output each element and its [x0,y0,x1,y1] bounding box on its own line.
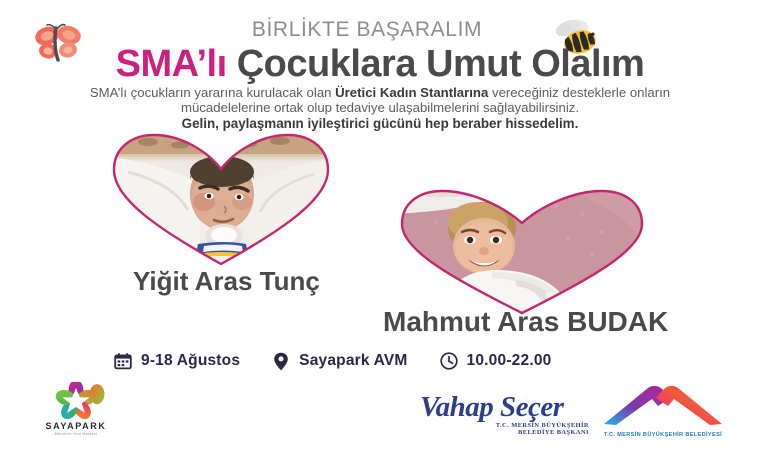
kicker-text: BİRLİKTE BAŞARALIM [0,18,760,42]
body-line1-bold: Üretici Kadın Stantlarına [335,85,488,100]
sayapark-flower-logo [47,382,105,420]
child-name-2: Mahmut Aras BUDAK [383,306,668,338]
mersin-m-logo [600,384,726,431]
page-title: SMA’lı Çocuklara Umut Olalım [0,43,760,86]
child-photo-heart-2 [396,188,648,316]
location-pin-icon [270,350,292,372]
child-name-1: Yiğit Aras Tunç [133,266,320,297]
mersin-caption: T.C. MERSİN BÜYÜKŞEHİR BELEDİYESİ [600,432,726,438]
event-info-bar: 9-18 Ağustos Sayapark AVM 10.00-22.00 [112,350,551,372]
info-item-location: Sayapark AVM [270,350,407,372]
info-item-date: 9-18 Ağustos [112,350,240,372]
sayapark-tagline: Mersin'in Yeni Merkezi [38,432,114,436]
vahap-title-line1: T.C. MERSİN BÜYÜKŞEHİR [420,422,595,429]
vahap-secer-logo: Vahap Seçer T.C. MERSİN BÜYÜKŞEHİR BELED… [420,392,595,436]
vahap-title-line2: BELEDİYE BAŞKANI [420,429,595,436]
poster-canvas: BİRLİKTE BAŞARALIM SMA’lı Çocuklara Umut… [0,0,760,450]
mersin-municipality-logo: T.C. MERSİN BÜYÜKŞEHİR BELEDİYESİ [600,384,726,436]
headline-rest: Çocuklara Umut Olalım [237,43,645,85]
headline-highlight: SMA’lı [116,43,227,85]
clock-icon [438,350,460,372]
body-line3: Gelin, paylaşmanın iyileştirici gücünü h… [80,117,680,132]
child-photo-heart-1 [108,132,334,267]
vahap-signature: Vahap Seçer [420,392,595,422]
body-line1-b: vereceğiniz [488,85,558,100]
info-item-time: 10.00-22.00 [438,350,552,372]
sayapark-logo: SAYAPARK Mersin'in Yeni Merkezi [38,382,114,436]
sayapark-wordmark: SAYAPARK [38,421,114,431]
body-line1-a: SMA’lı çocukların yararına kurulacak ola… [90,85,335,100]
info-time-text: 10.00-22.00 [467,352,552,370]
body-copy: SMA’lı çocukların yararına kurulacak ola… [80,86,680,132]
info-date-text: 9-18 Ağustos [141,352,240,370]
calendar-icon [112,350,134,372]
info-location-text: Sayapark AVM [299,352,407,370]
